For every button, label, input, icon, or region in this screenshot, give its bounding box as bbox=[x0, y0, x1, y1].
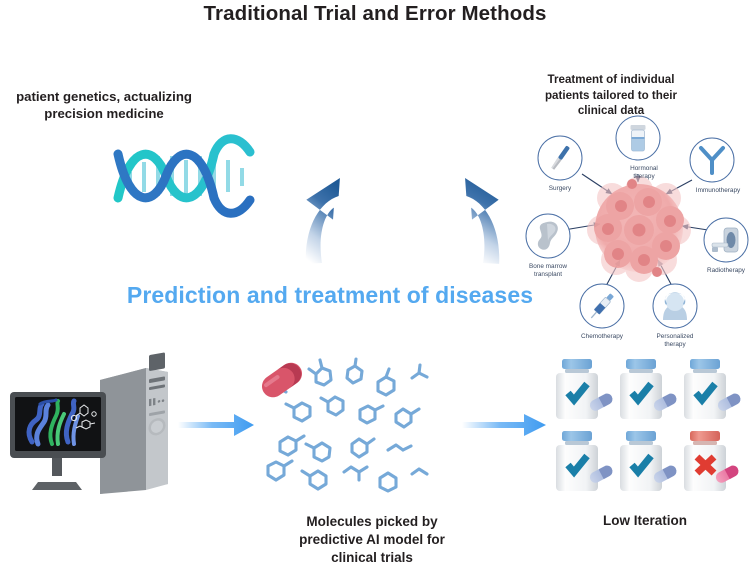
treatment-heading-line3: clinical data bbox=[531, 103, 691, 119]
low-iteration-caption: Low Iteration bbox=[555, 513, 735, 528]
desktop-computer-graphic bbox=[8, 358, 176, 498]
pill-bottle-2 bbox=[620, 359, 678, 419]
genetics-caption: patient genetics, actualizing precision … bbox=[4, 88, 204, 123]
pill-bottle-4 bbox=[556, 431, 614, 491]
node-label-bone-marrow-2: transplant bbox=[534, 271, 562, 278]
node-label-hormonal-2: therapy bbox=[633, 173, 655, 180]
molecule-cluster-graphic bbox=[252, 356, 434, 508]
pill-bottle-1 bbox=[556, 359, 614, 419]
genetics-caption-line2: precision medicine bbox=[4, 105, 204, 122]
blue-arrow-right-2 bbox=[462, 410, 548, 440]
page-title: Traditional Trial and Error Methods bbox=[0, 2, 750, 26]
center-headline: Prediction and treatment of diseases bbox=[120, 282, 540, 309]
pill-bottle-3 bbox=[684, 359, 742, 419]
treatment-wheel: Surgery Hormonal therapy Immunotherapy R… bbox=[520, 118, 750, 338]
node-label-personalized: Personalized bbox=[657, 333, 694, 340]
node-label-personalized-2: therapy bbox=[664, 341, 686, 348]
molecules-caption-line3: clinical trials bbox=[272, 549, 472, 567]
molecules-caption-line2: predictive AI model for bbox=[272, 531, 472, 549]
node-label-immunotherapy: Immunotherapy bbox=[696, 187, 741, 194]
treatment-heading-line1: Treatment of individual bbox=[531, 72, 691, 88]
node-label-hormonal: Hormonal bbox=[630, 165, 658, 172]
curved-arrow-right bbox=[440, 168, 510, 273]
node-label-surgery: Surgery bbox=[549, 185, 572, 192]
genetics-caption-line1: patient genetics, actualizing bbox=[4, 88, 204, 105]
dna-double-helix-graphic bbox=[108, 126, 258, 226]
pill-bottle-5 bbox=[620, 431, 678, 491]
red-capsule-icon bbox=[258, 358, 307, 401]
molecules-caption-line1: Molecules picked by bbox=[272, 513, 472, 531]
tumor-cell-cluster bbox=[587, 176, 691, 282]
pill-bottle-6 bbox=[684, 431, 740, 491]
pill-bottles-graphic bbox=[548, 357, 744, 505]
node-label-radiotherapy: Radiotherapy bbox=[707, 267, 746, 274]
blue-arrow-right-1 bbox=[178, 410, 256, 440]
node-label-chemotherapy: Chemotherapy bbox=[581, 333, 624, 340]
treatment-heading-line2: patients tailored to their bbox=[531, 88, 691, 104]
node-label-bone-marrow: Bone marrow bbox=[529, 263, 567, 270]
treatment-heading: Treatment of individual patients tailore… bbox=[531, 72, 691, 119]
molecules-caption: Molecules picked by predictive AI model … bbox=[272, 513, 472, 567]
curved-arrow-left bbox=[295, 168, 365, 273]
sample-vial-icon bbox=[631, 125, 646, 151]
